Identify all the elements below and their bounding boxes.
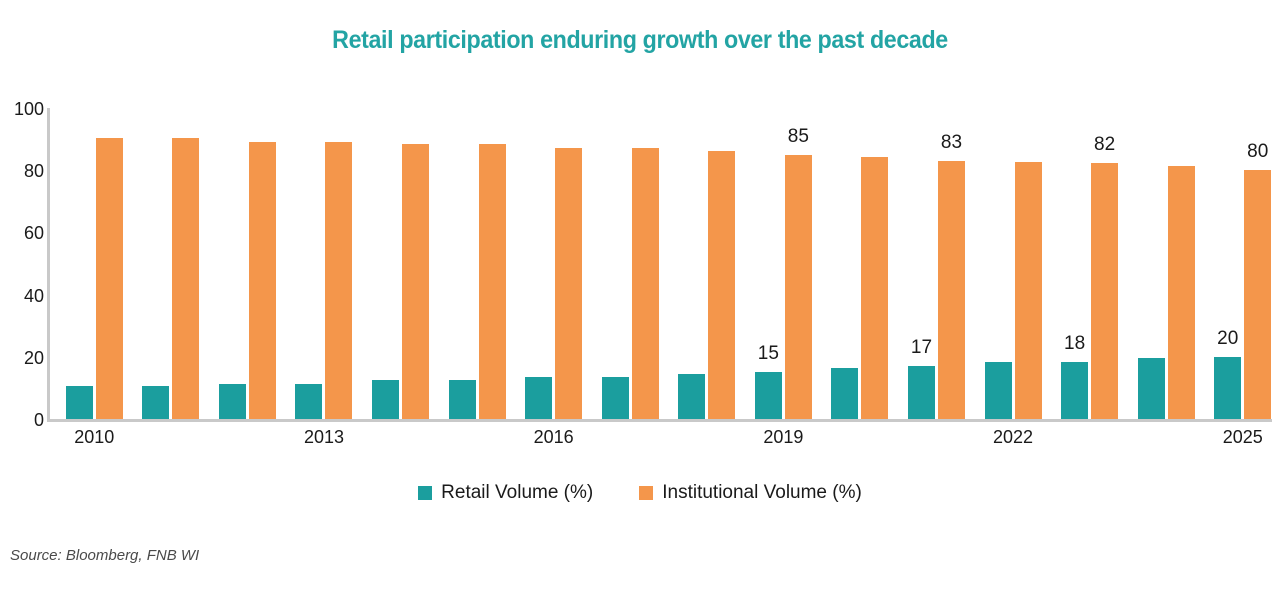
- y-tick-100: 100: [4, 100, 44, 118]
- bar-institutional-2024: [1168, 166, 1195, 419]
- bar-institutional-2022: [1015, 162, 1042, 419]
- bar-institutional-2013: [325, 142, 352, 419]
- bar-retail-2016: [525, 377, 552, 419]
- x-tick-2022: 2022: [973, 428, 1053, 446]
- bar-retail-2018: [678, 374, 705, 419]
- bar-retail-2019: [755, 372, 782, 419]
- y-tick-60: 60: [4, 224, 44, 242]
- bar-institutional-2010: [96, 138, 123, 419]
- bar-institutional-2019: [785, 155, 812, 419]
- bar-institutional-2017: [632, 148, 659, 419]
- bar-value-label: 85: [771, 127, 826, 146]
- legend-swatch-icon: [639, 486, 653, 500]
- y-tick-0: 0: [4, 411, 44, 429]
- y-tick-80: 80: [4, 162, 44, 180]
- y-tick-20: 20: [4, 349, 44, 367]
- x-tick-2019: 2019: [743, 428, 823, 446]
- bar-retail-2021: [908, 366, 935, 419]
- legend-item-retail[interactable]: Retail Volume (%): [418, 483, 593, 502]
- plot-area: 1517182085838280: [47, 108, 1272, 419]
- bar-institutional-2015: [479, 144, 506, 419]
- y-tick-40: 40: [4, 287, 44, 305]
- bar-institutional-2023: [1091, 163, 1118, 419]
- bar-retail-2024: [1138, 358, 1165, 419]
- bar-chart: Retail participation enduring growth ove…: [0, 0, 1280, 592]
- x-tick-2010: 2010: [54, 428, 134, 446]
- bar-retail-2023: [1061, 362, 1088, 419]
- bar-institutional-2011: [172, 138, 199, 419]
- bar-retail-2011: [142, 386, 169, 419]
- bar-retail-2013: [295, 384, 322, 419]
- legend-swatch-icon: [418, 486, 432, 500]
- bar-institutional-2025: [1244, 170, 1271, 419]
- x-tick-2016: 2016: [514, 428, 594, 446]
- bar-retail-2015: [449, 380, 476, 419]
- x-tick-2013: 2013: [284, 428, 364, 446]
- bar-value-label: 80: [1230, 142, 1280, 161]
- bar-institutional-2021: [938, 161, 965, 419]
- bar-institutional-2018: [708, 151, 735, 419]
- chart-legend: Retail Volume (%)Institutional Volume (%…: [0, 483, 1280, 502]
- bar-institutional-2012: [249, 142, 276, 419]
- bar-retail-2025: [1214, 357, 1241, 419]
- bar-institutional-2016: [555, 148, 582, 419]
- bar-retail-2014: [372, 380, 399, 419]
- source-note: Source: Bloomberg, FNB WI: [10, 547, 199, 564]
- bar-retail-2010: [66, 386, 93, 419]
- legend-label: Retail Volume (%): [441, 483, 593, 502]
- bar-value-label: 83: [924, 133, 979, 152]
- bar-institutional-2020: [861, 157, 888, 419]
- y-axis-line: [47, 108, 50, 419]
- legend-item-institutional[interactable]: Institutional Volume (%): [639, 483, 862, 502]
- x-axis-line: [47, 419, 1272, 422]
- x-tick-2025: 2025: [1203, 428, 1280, 446]
- bar-institutional-2014: [402, 144, 429, 419]
- legend-label: Institutional Volume (%): [662, 483, 862, 502]
- bar-retail-2012: [219, 384, 246, 419]
- bar-value-label: 82: [1077, 135, 1132, 154]
- page-title: Retail participation enduring growth ove…: [45, 26, 1235, 55]
- bar-retail-2022: [985, 362, 1012, 419]
- bar-retail-2020: [831, 368, 858, 419]
- bar-retail-2017: [602, 377, 629, 419]
